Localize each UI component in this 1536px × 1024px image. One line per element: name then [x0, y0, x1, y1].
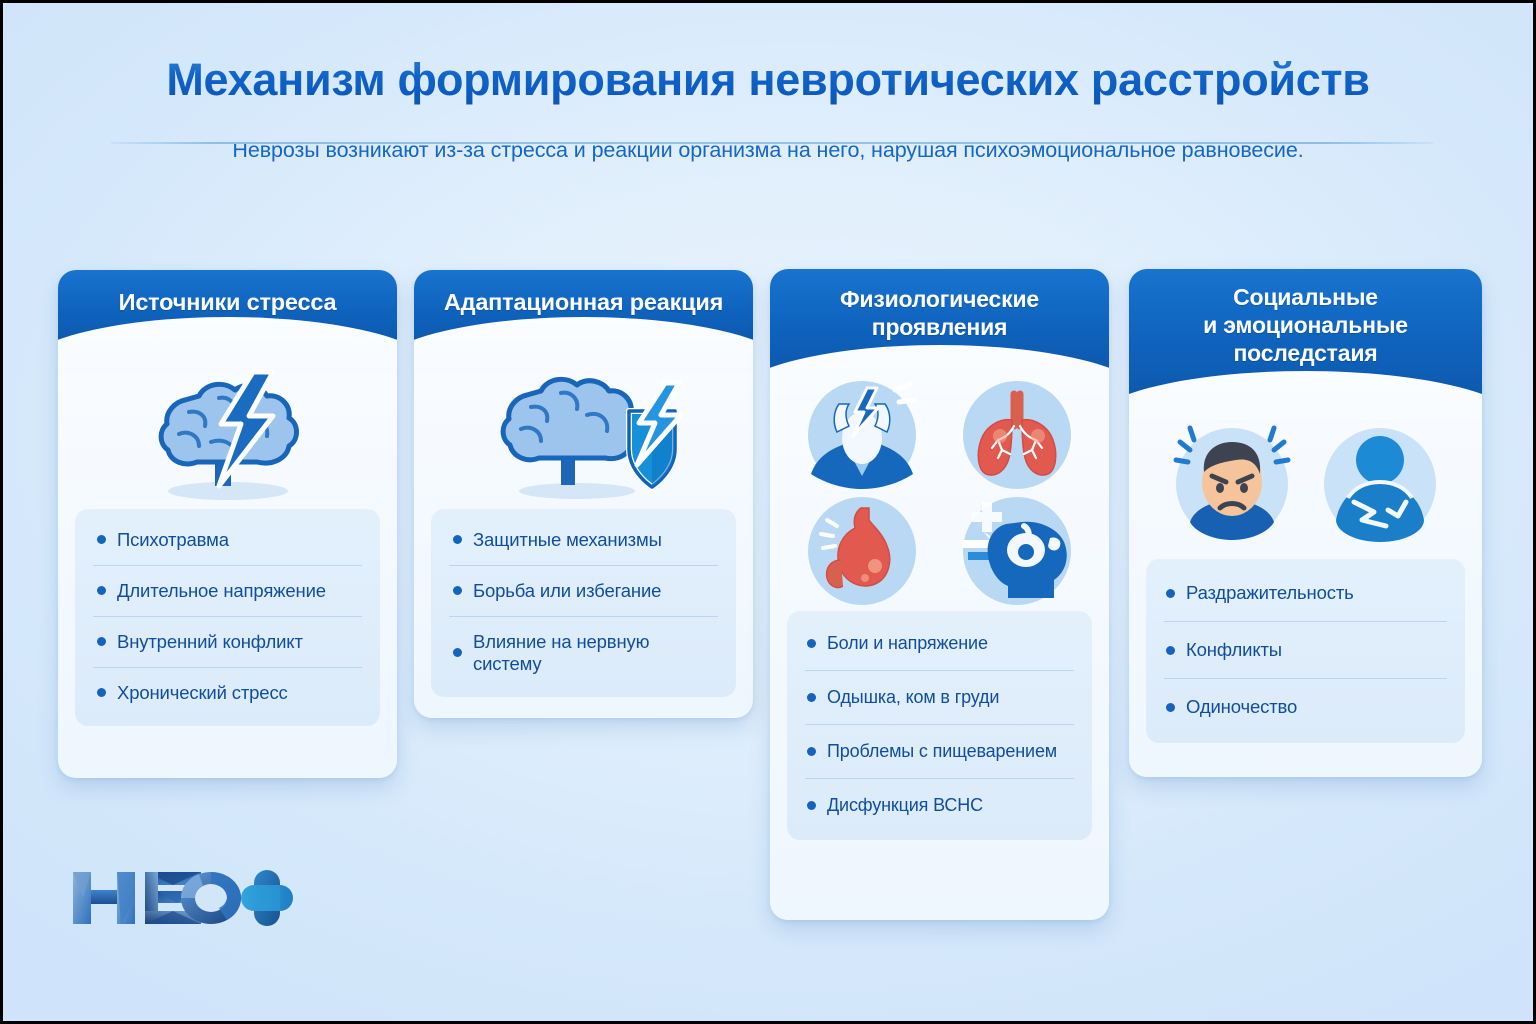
angry-face-icon — [1164, 416, 1300, 552]
card-title-line-2: и эмоциональные — [1143, 311, 1468, 339]
list-item[interactable]: Длительное напряжение — [93, 566, 362, 617]
list-item-label: Раздражительность — [1186, 582, 1354, 604]
icon-cell — [784, 494, 940, 608]
bullet-icon — [807, 801, 816, 810]
title-divider — [111, 142, 1433, 144]
list-item[interactable]: Внутренний конфликт — [93, 617, 362, 668]
icon-cell — [940, 494, 1096, 608]
poster-header: Механизм формирования невротических расс… — [3, 3, 1533, 163]
card-title-line-2: проявления — [784, 313, 1095, 341]
list-item-label: Длительное напряжение — [117, 580, 326, 602]
headache-person-icon — [799, 378, 925, 492]
bullet-icon — [807, 693, 816, 702]
card-list: Раздражительность Конфликты Одиночество — [1146, 559, 1465, 743]
list-item[interactable]: Борьба или избегание — [449, 566, 718, 617]
list-item[interactable]: Боли и напряжение — [805, 617, 1074, 671]
card-social-emotional-consequences[interactable]: Социальные и эмоциональные последстаия — [1129, 269, 1482, 777]
bullet-icon — [807, 639, 816, 648]
list-item[interactable]: Проблемы с пищеварением — [805, 725, 1074, 779]
card-header: Физиологические проявления — [770, 269, 1109, 371]
bullet-icon — [1166, 589, 1175, 598]
bullet-icon — [1166, 646, 1175, 655]
card-header: Адаптационная реакция — [414, 270, 753, 343]
card-list: Боли и напряжение Одышка, ком в груди Пр… — [787, 611, 1092, 840]
list-item-label: Одиночество — [1186, 696, 1297, 718]
list-item-label: Защитные механизмы — [473, 529, 662, 551]
list-item[interactable]: Одышка, ком в груди — [805, 671, 1074, 725]
icon-cell — [784, 378, 940, 492]
card-header: Источники стресса — [58, 270, 397, 343]
bullet-icon — [97, 586, 106, 595]
list-item-label: Борьба или избегание — [473, 580, 661, 602]
card-list: Психотравма Длительное напряжение Внутре… — [75, 509, 380, 726]
infographic-poster: Механизм формирования невротических расс… — [0, 0, 1536, 1024]
list-item[interactable]: Одиночество — [1164, 679, 1447, 735]
list-item[interactable]: Психотравма — [93, 515, 362, 566]
card-header: Социальные и эмоциональные последстаия — [1129, 269, 1482, 397]
card-title-line-3: последстаия — [1143, 339, 1468, 367]
icon-cell — [940, 378, 1096, 492]
list-item-label: Боли и напряжение — [827, 633, 988, 654]
list-item[interactable]: Дисфункция ВСНС — [805, 779, 1074, 832]
card-artwork — [58, 349, 397, 509]
card-artwork — [1129, 409, 1482, 559]
card-title-line-1: Физиологические — [784, 285, 1095, 313]
list-item[interactable]: Конфликты — [1164, 622, 1447, 679]
card-artwork — [770, 375, 1109, 611]
card-artwork — [414, 349, 753, 509]
card-title: Источники стресса — [119, 289, 337, 315]
card-adaptive-reaction[interactable]: Адаптационная реакция Защ — [414, 270, 753, 718]
neo-plus-logo-mark — [69, 858, 329, 938]
brain-lightning-icon — [123, 354, 333, 504]
bullet-icon — [97, 637, 106, 646]
list-item[interactable]: Влияние на нервную систему — [449, 617, 718, 689]
bullet-icon — [1166, 703, 1175, 712]
list-item-label: Влияние на нервную систему — [473, 631, 716, 675]
list-item[interactable]: Хронический стресс — [93, 668, 362, 718]
bullet-icon — [97, 688, 106, 697]
list-item-label: Одышка, ком в груди — [827, 687, 999, 708]
lonely-person-icon — [1312, 416, 1448, 552]
card-title-line-1: Социальные — [1143, 283, 1468, 311]
list-item-label: Дисфункция ВСНС — [827, 795, 983, 816]
list-item-label: Конфликты — [1186, 639, 1282, 661]
bullet-icon — [807, 747, 816, 756]
list-item-label: Внутренний конфликт — [117, 631, 303, 653]
list-item-label: Хронический стресс — [117, 682, 288, 704]
neo-plus-logo[interactable]: HEO+ — [69, 858, 329, 938]
bullet-icon — [453, 535, 462, 544]
card-title: Адаптационная реакция — [444, 289, 723, 315]
bullet-icon — [453, 648, 462, 657]
brain-shield-lightning-icon — [469, 353, 699, 505]
page-title: Механизм формирования невротических расс… — [3, 55, 1533, 105]
card-sources-of-stress[interactable]: Источники стресса Психотр — [58, 270, 397, 778]
lungs-icon — [954, 378, 1080, 492]
list-item[interactable]: Раздражительность — [1164, 565, 1447, 622]
card-physiological-manifestations[interactable]: Физиологические проявления — [770, 269, 1109, 920]
list-item[interactable]: Защитные механизмы — [449, 515, 718, 566]
card-list: Защитные механизмы Борьба или избегание … — [431, 509, 736, 697]
stomach-icon — [799, 494, 925, 608]
list-item-label: Психотравма — [117, 529, 229, 551]
list-item-label: Проблемы с пищеварением — [827, 741, 1057, 762]
bullet-icon — [453, 586, 462, 595]
bullet-icon — [97, 535, 106, 544]
head-brain-arrows-icon — [954, 494, 1080, 608]
